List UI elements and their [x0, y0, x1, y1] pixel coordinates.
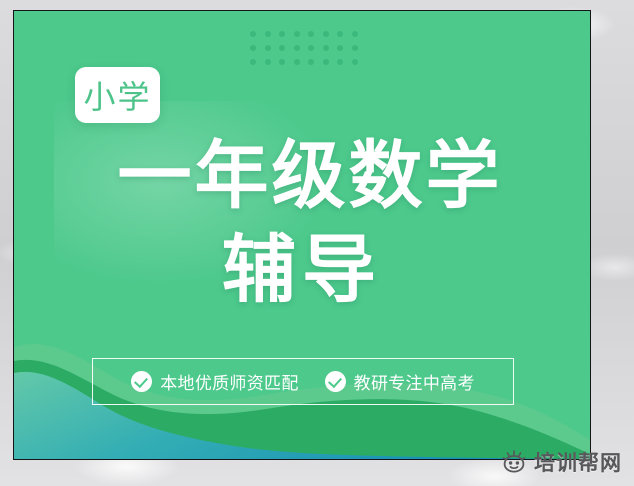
dot-grid-decoration: [250, 31, 366, 73]
watermark-text: 培训帮网: [534, 447, 622, 477]
check-circle-icon: [325, 371, 346, 392]
grade-badge: 小学: [75, 67, 160, 123]
grade-badge-label: 小学: [83, 72, 151, 118]
sun-face-logo-icon: [501, 450, 527, 474]
feature-list: 本地优质师资匹配 教研专注中高考: [92, 358, 514, 405]
check-circle-icon: [131, 371, 152, 392]
watermark: 培训帮网: [495, 444, 628, 480]
poster-title-line-2: 辅导: [14, 233, 590, 307]
poster-title-line-1: 一年级数学: [14, 139, 590, 213]
poster-card: 小学 一年级数学 辅导 本地优质师资匹配 教研专注中高考: [13, 10, 591, 460]
feature-item-1-label: 本地优质师资匹配: [160, 369, 298, 394]
feature-item-1: 本地优质师资匹配: [131, 369, 298, 394]
feature-item-2-label: 教研专注中高考: [354, 369, 475, 394]
feature-item-2: 教研专注中高考: [325, 369, 475, 394]
page-background: 小学 一年级数学 辅导 本地优质师资匹配 教研专注中高考: [0, 0, 634, 486]
